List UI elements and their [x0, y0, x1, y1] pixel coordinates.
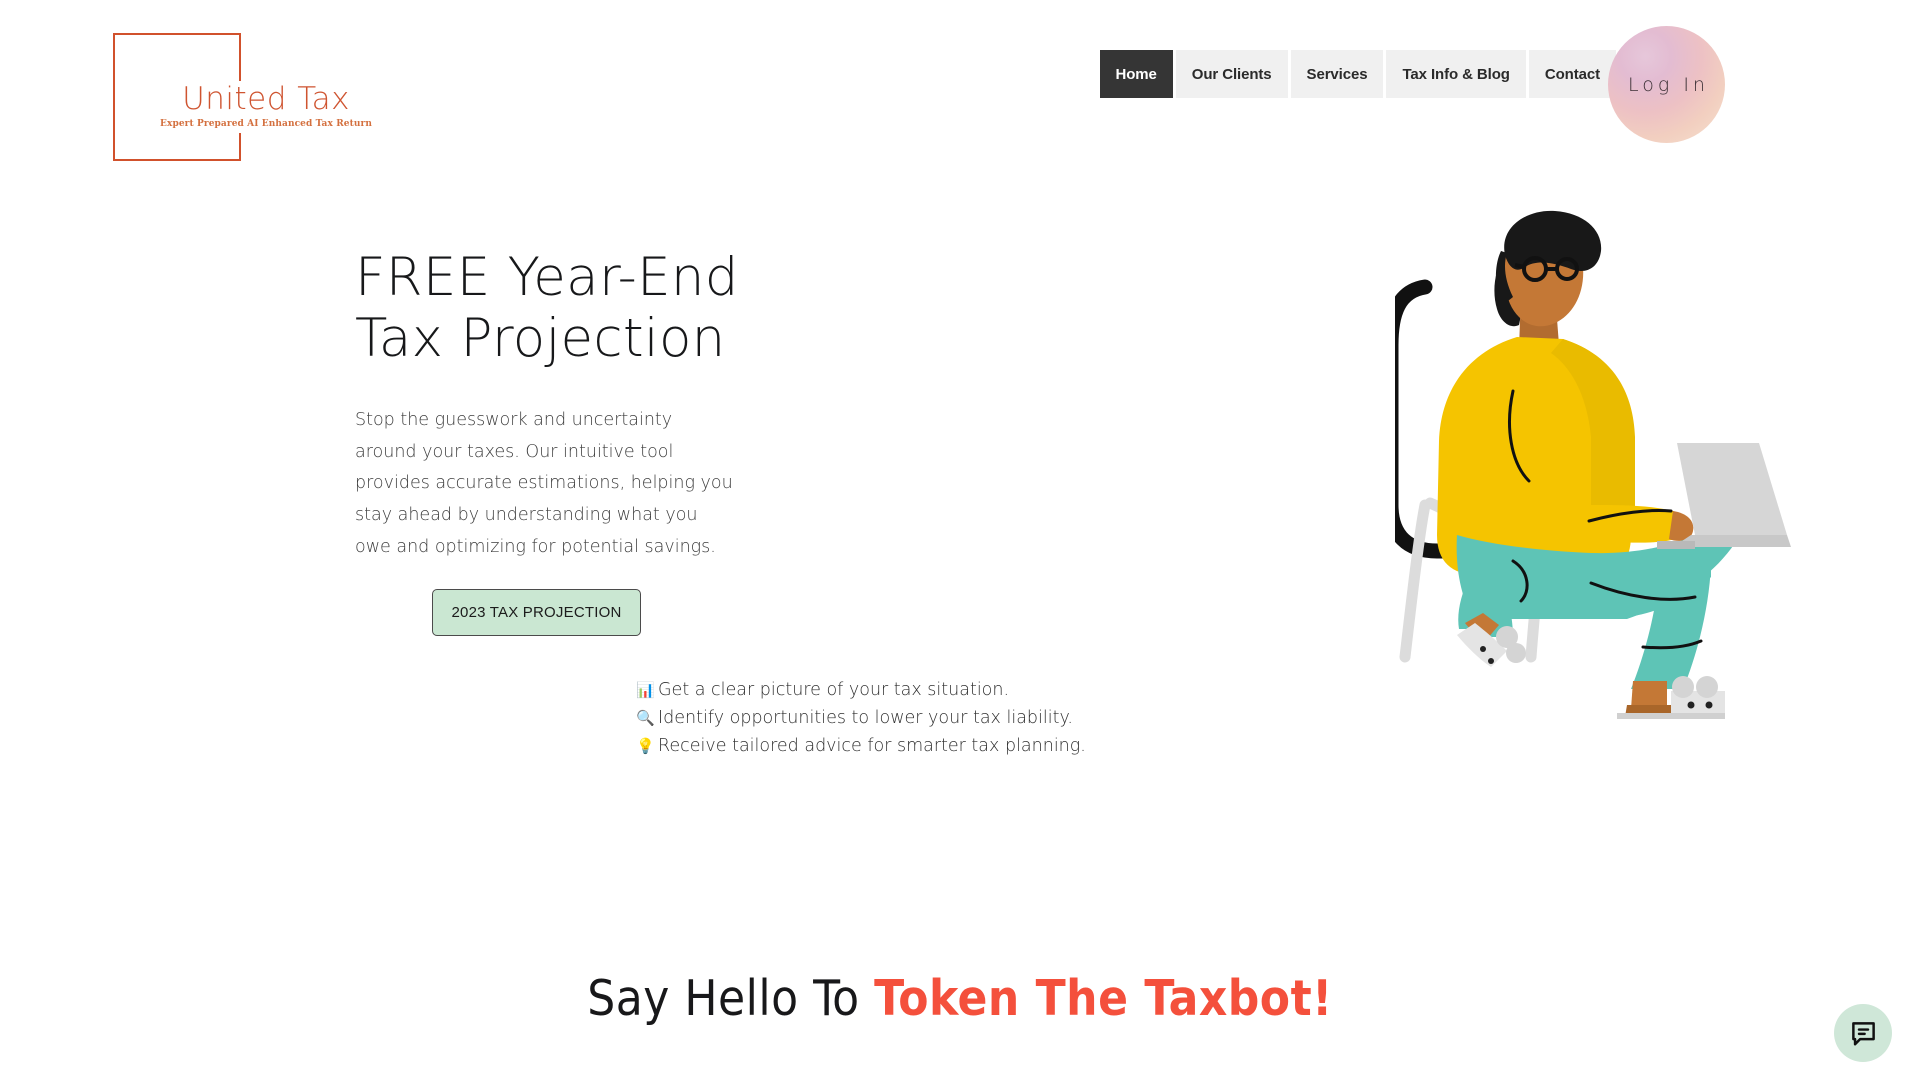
logo-tagline: Expert Prepared AI Enhanced Tax Return — [157, 119, 375, 129]
taxbot-heading: Say Hello To Token The Taxbot! — [0, 970, 1920, 1027]
nav-item-contact[interactable]: Contact — [1529, 50, 1616, 98]
light-bulb-emoji-icon: 💡 — [636, 732, 658, 760]
ankle-right — [1631, 681, 1667, 709]
chair-leg-left — [1405, 505, 1425, 657]
shoe-right-detail-1 — [1672, 676, 1694, 698]
page-title: FREE Year-End Tax Projection — [355, 247, 739, 370]
shoe-right-dot-2 — [1706, 702, 1713, 709]
chat-bubble-icon — [1850, 1020, 1877, 1047]
tax-projection-button[interactable]: 2023 TAX PROJECTION — [432, 589, 641, 636]
magnifying-glass-emoji-icon: 🔍 — [636, 704, 658, 732]
taxbot-heading-plain: Say Hello To — [587, 970, 874, 1027]
list-item: 📊 Get a clear picture of your tax situat… — [636, 676, 1086, 704]
hair-top — [1504, 211, 1601, 271]
glasses-temple — [1515, 265, 1524, 267]
tax-projection-button-label: 2023 TAX PROJECTION — [452, 604, 622, 621]
list-item: 🔍 Identify opportunities to lower your t… — [636, 704, 1086, 732]
shoe-right-sole — [1617, 713, 1725, 719]
chat-widget-button[interactable] — [1834, 1004, 1892, 1062]
hero-illustration — [1395, 205, 1815, 805]
person-with-laptop-illustration — [1395, 205, 1815, 805]
main-navigation: Home Our Clients Services Tax Info & Blo… — [1086, 50, 1630, 98]
shoe-left-dot-1 — [1480, 646, 1486, 652]
laptop-screen — [1677, 443, 1787, 535]
taxbot-heading-accent: Token The Taxbot! — [874, 970, 1333, 1027]
nav-item-tax-info-blog[interactable]: Tax Info & Blog — [1386, 50, 1525, 98]
laptop-edge — [1657, 541, 1695, 549]
log-in-label: Log In — [1624, 74, 1709, 96]
benefit-text: Get a clear picture of your tax situatio… — [658, 676, 1009, 704]
bar-chart-emoji-icon: 📊 — [636, 676, 658, 704]
log-in-button[interactable]: Log In — [1608, 26, 1725, 143]
shoe-right-dot-1 — [1688, 702, 1695, 709]
list-item: 💡 Receive tailored advice for smarter ta… — [636, 732, 1086, 760]
nav-item-our-clients[interactable]: Our Clients — [1176, 50, 1288, 98]
site-logo[interactable]: United Tax Expert Prepared AI Enhanced T… — [113, 33, 243, 163]
benefits-list: 📊 Get a clear picture of your tax situat… — [636, 676, 1086, 760]
nav-item-services[interactable]: Services — [1291, 50, 1384, 98]
shoe-left-detail-2 — [1506, 643, 1526, 663]
logo-text-wrap: United Tax Expert Prepared AI Enhanced T… — [151, 81, 381, 133]
page-root: United Tax Expert Prepared AI Enhanced T… — [0, 0, 1920, 1080]
benefit-text: Receive tailored advice for smarter tax … — [658, 732, 1086, 760]
benefit-text: Identify opportunities to lower your tax… — [658, 704, 1073, 732]
logo-title: United Tax — [157, 83, 375, 116]
shoe-left-dot-2 — [1488, 658, 1494, 664]
shoe-right-detail-2 — [1696, 676, 1718, 698]
nav-item-home[interactable]: Home — [1100, 50, 1173, 98]
hero-paragraph: Stop the guesswork and uncertainty aroun… — [355, 405, 733, 563]
